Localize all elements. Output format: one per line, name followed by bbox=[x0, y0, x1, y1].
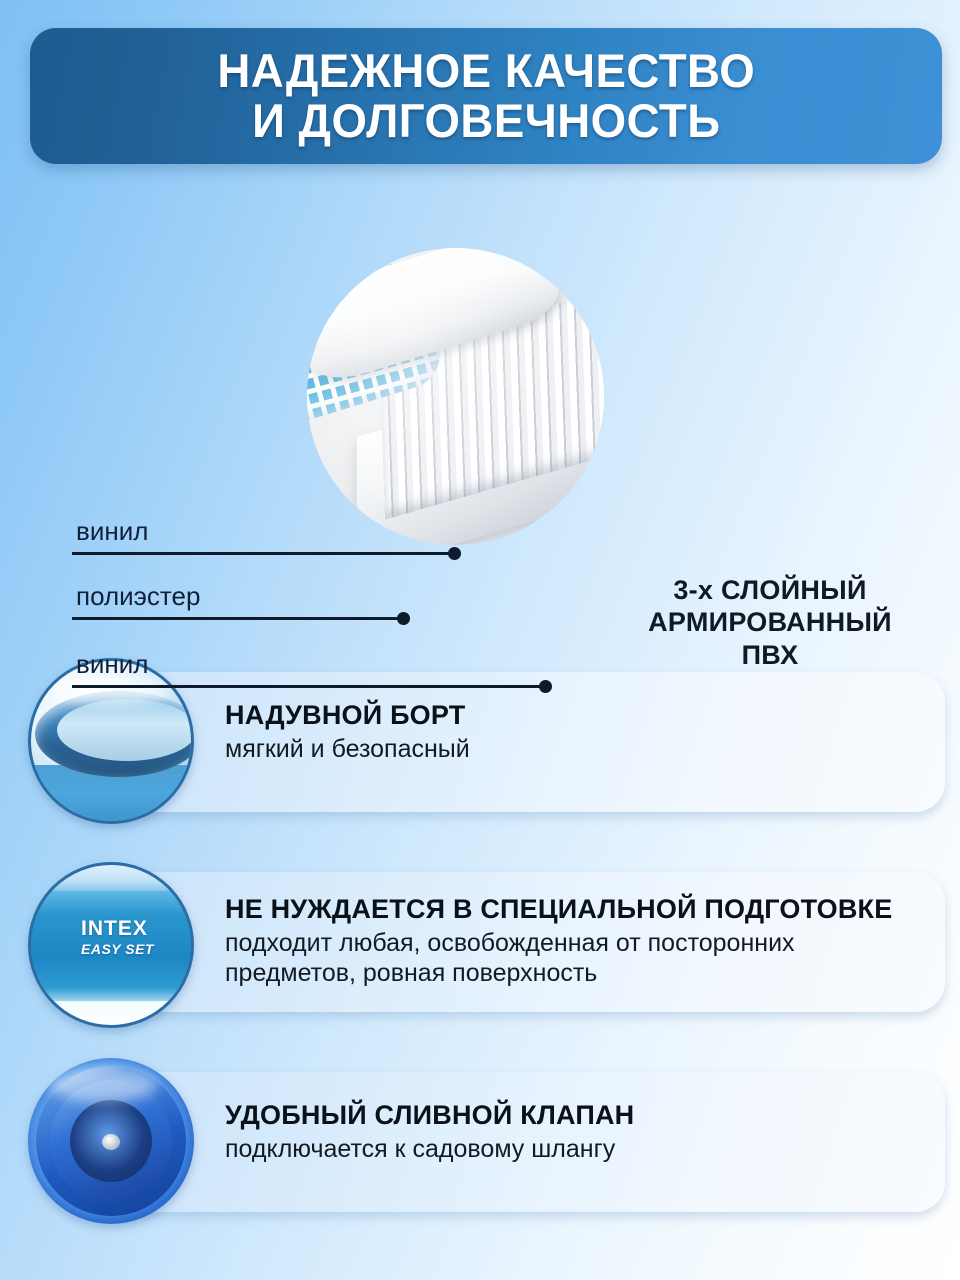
pvc-headline-line-2: АРМИРОВАННЫЙ bbox=[620, 606, 920, 638]
intex-logo: INTEX EASY SET bbox=[81, 917, 191, 957]
feature-subtitle-line-2: предметов, ровная поверхность bbox=[225, 958, 921, 988]
feature-card-inflatable-ring: НАДУВНОЙ БОРТ мягкий и безопасный bbox=[105, 672, 945, 812]
feature-subtitle: подключается к садовому шлангу bbox=[225, 1134, 921, 1164]
fabric-photo bbox=[307, 248, 604, 545]
intex-easy-set-photo: INTEX EASY SET bbox=[28, 862, 194, 1028]
leader-dot-icon bbox=[397, 612, 410, 625]
drain-valve-photo bbox=[28, 1058, 194, 1224]
leader-line-polyester bbox=[72, 617, 404, 620]
banner-title-line-2: И ДОЛГОВЕЧНОСТЬ bbox=[217, 96, 755, 146]
pool-ring-inner bbox=[57, 699, 194, 761]
feature-card-drain-valve: УДОБНЫЙ СЛИВНОЙ КЛАПАН подключается к са… bbox=[105, 1072, 945, 1212]
leader-dot-icon bbox=[539, 680, 552, 693]
pvc-headline-line-3: ПВХ bbox=[620, 639, 920, 671]
feature-subtitle-line-1: подходит любая, освобожденная от посторо… bbox=[225, 928, 921, 958]
feature-subtitle: мягкий и безопасный bbox=[225, 734, 921, 764]
layer-label-vinyl-top: винил bbox=[76, 516, 148, 547]
material-layer-diagram: винил полиэстер винил 3-х СЛОЙНЫЙ АРМИРО… bbox=[0, 230, 960, 580]
header-banner: НАДЕЖНОЕ КАЧЕСТВО И ДОЛГОВЕЧНОСТЬ bbox=[30, 28, 942, 164]
feature-text-block: НЕ НУЖДАЕТСЯ В СПЕЦИАЛЬНОЙ ПОДГОТОВКЕ по… bbox=[225, 894, 921, 988]
photo-sheen bbox=[307, 248, 604, 545]
infographic-page: НАДЕЖНОЕ КАЧЕСТВО И ДОЛГОВЕЧНОСТЬ винил … bbox=[0, 0, 960, 1280]
feature-card-no-preparation: НЕ НУЖДАЕТСЯ В СПЕЦИАЛЬНОЙ ПОДГОТОВКЕ по… bbox=[105, 872, 945, 1012]
intex-logo-brand: INTEX bbox=[81, 917, 191, 941]
feature-text-block: НАДУВНОЙ БОРТ мягкий и безопасный bbox=[225, 700, 921, 764]
layer-label-vinyl-bottom: винил bbox=[76, 649, 148, 680]
inflatable-ring-photo bbox=[28, 658, 194, 824]
leader-dot-icon bbox=[448, 547, 461, 560]
feature-text-block: УДОБНЫЙ СЛИВНОЙ КЛАПАН подключается к са… bbox=[225, 1100, 921, 1164]
banner-title-line-1: НАДЕЖНОЕ КАЧЕСТВО bbox=[217, 44, 755, 97]
leader-line-vinyl-top bbox=[72, 552, 455, 555]
intex-logo-sub: EASY SET bbox=[81, 941, 191, 957]
feature-title: НАДУВНОЙ БОРТ bbox=[225, 700, 921, 731]
banner-title: НАДЕЖНОЕ КАЧЕСТВО И ДОЛГОВЕЧНОСТЬ bbox=[217, 46, 755, 146]
feature-title: УДОБНЫЙ СЛИВНОЙ КЛАПАН bbox=[225, 1100, 921, 1131]
pvc-headline: 3-х СЛОЙНЫЙ АРМИРОВАННЫЙ ПВХ bbox=[620, 574, 920, 671]
valve-center-screw-icon bbox=[102, 1134, 120, 1150]
feature-title: НЕ НУЖДАЕТСЯ В СПЕЦИАЛЬНОЙ ПОДГОТОВКЕ bbox=[225, 894, 921, 925]
leader-line-vinyl-bottom bbox=[72, 685, 546, 688]
pvc-headline-line-1: 3-х СЛОЙНЫЙ bbox=[620, 574, 920, 606]
valve-gloss bbox=[48, 1068, 158, 1102]
layer-label-polyester: полиэстер bbox=[76, 581, 200, 612]
